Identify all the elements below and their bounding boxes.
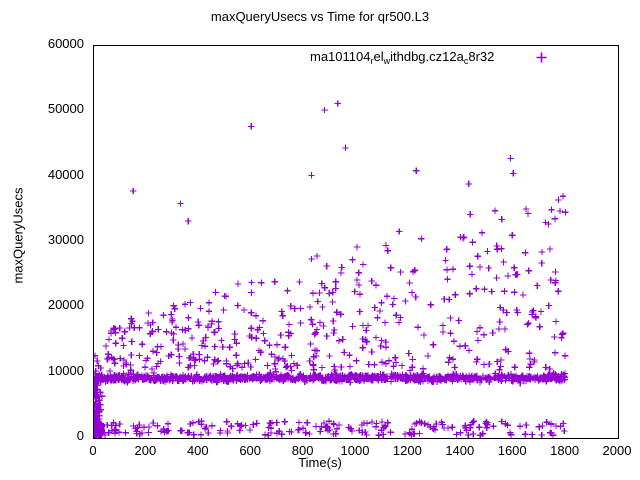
- legend-key-marker-icon: [526, 51, 556, 64]
- legend-series-label: ma101104relwithdbg.cz12ac8r32: [310, 49, 494, 66]
- data-point-layer: [94, 46, 618, 438]
- y-tick-label: 50000: [4, 101, 84, 116]
- y-tick-label: 10000: [4, 363, 84, 378]
- chart-title: maxQueryUsecs vs Time for qr500.L3: [0, 9, 640, 24]
- y-tick-label: 30000: [4, 232, 84, 247]
- x-tick-label: 2000: [582, 443, 640, 458]
- y-tick-label: 20000: [4, 297, 84, 312]
- y-tick-label: 40000: [4, 167, 84, 182]
- y-tick-label: 60000: [4, 36, 84, 51]
- plot-area: [93, 45, 619, 439]
- gnuplot-scatter-chart: maxQueryUsecs vs Time for qr500.L3 maxQu…: [0, 0, 640, 480]
- y-tick-label: 0: [4, 428, 84, 443]
- legend: ma101104relwithdbg.cz12ac8r32: [310, 47, 556, 67]
